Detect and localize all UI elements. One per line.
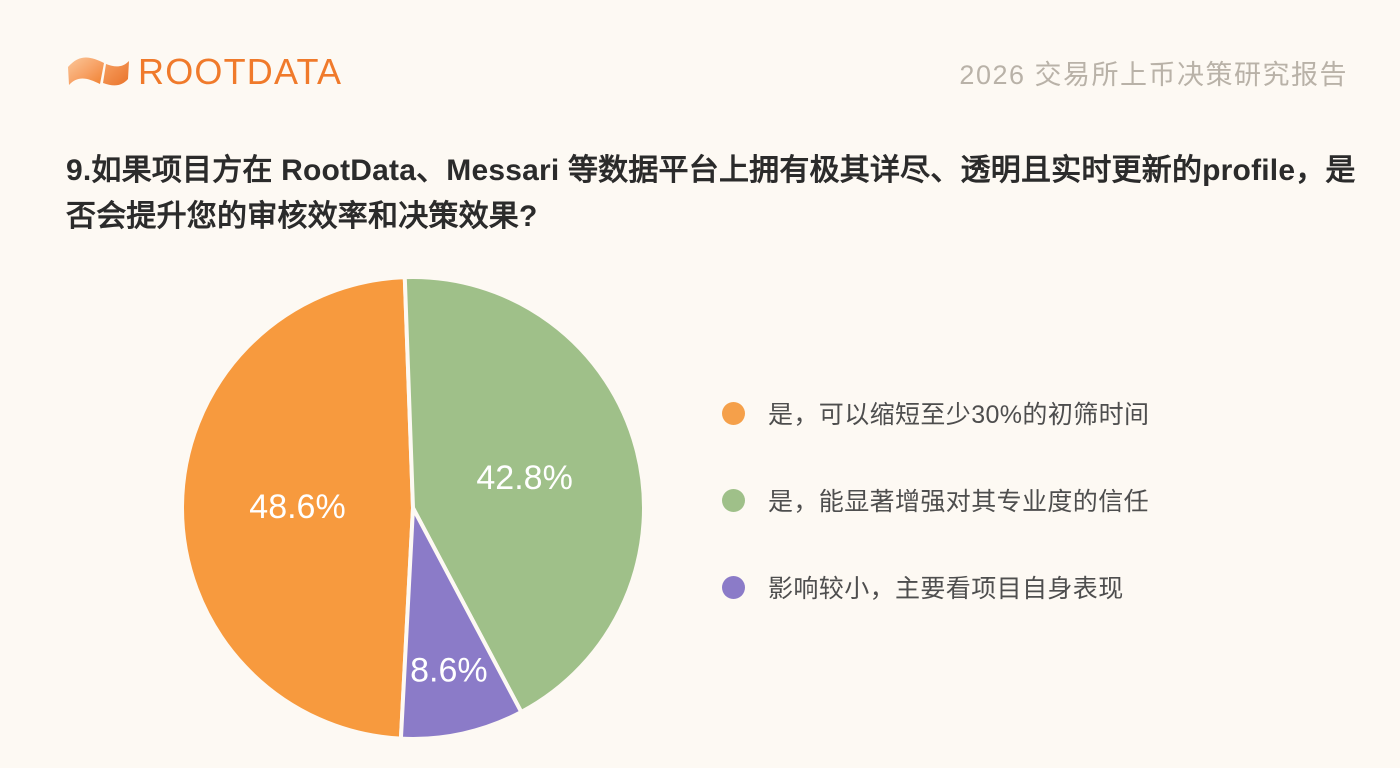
legend-item-0[interactable]: 是，可以缩短至少30%的初筛时间 — [722, 395, 1149, 431]
chart-container: 48.6%42.8%8.6% 是，可以缩短至少30%的初筛时间 是，能显著增强对… — [0, 265, 1400, 765]
brand-logo: ROOTDATA — [66, 51, 342, 93]
pie-slice-label-0: 48.6% — [249, 488, 345, 526]
pie-chart-svg: 48.6%42.8%8.6% — [182, 277, 644, 739]
page-header: ROOTDATA 2026 交易所上币决策研究报告 — [66, 44, 1348, 100]
legend-item-1[interactable]: 是，能显著增强对其专业度的信任 — [722, 482, 1149, 518]
pie-slice-label-2: 8.6% — [410, 651, 488, 689]
legend-swatch-green-icon — [722, 489, 745, 512]
legend-swatch-orange-icon — [722, 402, 745, 425]
legend-label-0: 是，可以缩短至少30%的初筛时间 — [768, 395, 1149, 431]
chart-legend: 是，可以缩短至少30%的初筛时间 是，能显著增强对其专业度的信任 影响较小，主要… — [722, 395, 1149, 605]
rootdata-flag-logo-icon — [66, 51, 132, 93]
report-title: 2026 交易所上币决策研究报告 — [959, 53, 1348, 92]
legend-label-1: 是，能显著增强对其专业度的信任 — [768, 482, 1149, 518]
question-title: 9.如果项目方在 RootData、Messari 等数据平台上拥有极其详尽、透… — [66, 148, 1356, 239]
legend-item-2[interactable]: 影响较小，主要看项目自身表现 — [722, 569, 1149, 605]
pie-slice-label-1: 42.8% — [476, 459, 572, 497]
pie-chart: 48.6%42.8%8.6% — [182, 277, 644, 739]
brand-name: ROOTDATA — [138, 54, 342, 90]
legend-swatch-purple-icon — [722, 576, 745, 599]
legend-label-2: 影响较小，主要看项目自身表现 — [768, 569, 1124, 605]
